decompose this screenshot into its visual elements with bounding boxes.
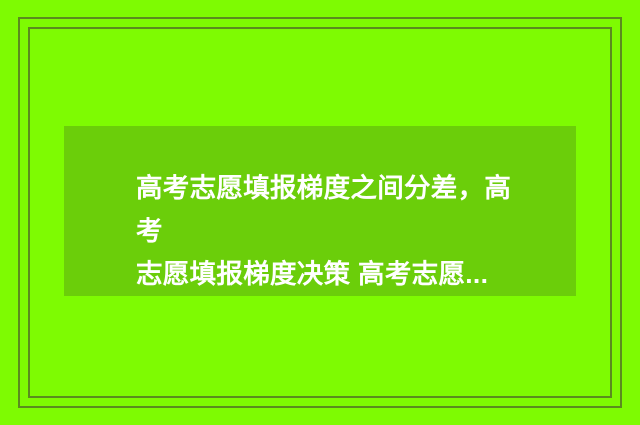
caption-line-2: 志愿填报梯度决策 高考志愿... — [136, 253, 536, 296]
caption-text: 高考志愿填报梯度之间分差，高考 志愿填报梯度决策 高考志愿... — [136, 167, 536, 296]
caption-line-1: 高考志愿填报梯度之间分差，高考 — [136, 167, 536, 253]
thumbnail-card: 高考志愿填报梯度之间分差，高考 志愿填报梯度决策 高考志愿... — [0, 0, 640, 425]
